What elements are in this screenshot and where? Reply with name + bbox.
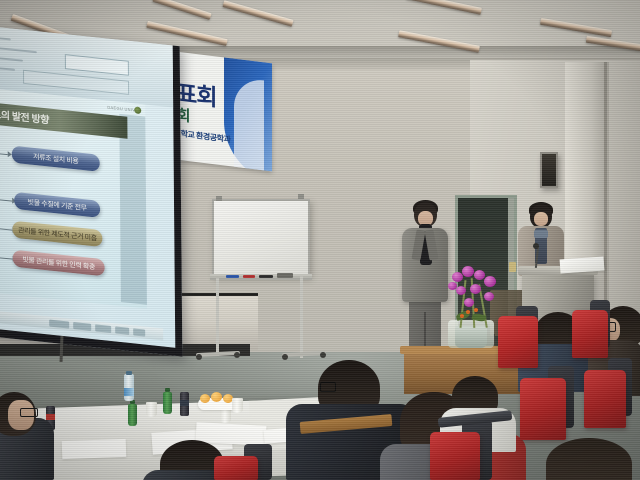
wall-speaker-icon	[540, 152, 558, 188]
slide-connector	[0, 151, 8, 155]
slide-node: 빗물 관리를 위한 인력 확충	[13, 250, 105, 277]
eraser-icon[interactable]	[277, 273, 293, 278]
auditorium-seat[interactable]	[498, 316, 538, 368]
eyeglasses-icon	[320, 382, 336, 392]
projection-screen: DAEGU UNIV 으로의 발전 방향 저류조 설치 비용 빗물 수질에 기준…	[0, 25, 182, 356]
window-text-line	[0, 36, 11, 40]
can-label	[180, 400, 189, 406]
auditorium-seat[interactable]	[214, 456, 258, 480]
auditorium-photo: 발표회 표회 대구대학교 환경공학과 DAEGU UNIV 으로의 발전 방향	[0, 0, 640, 480]
auditorium-seat[interactable]	[430, 432, 480, 480]
speaker-collar	[534, 230, 548, 238]
speaker-face	[534, 212, 548, 226]
slide-connector	[0, 227, 12, 231]
whiteboard-clip-icon	[298, 194, 304, 199]
window-text-line	[0, 46, 37, 53]
orchid-bloom	[448, 282, 457, 290]
banner-swoosh-accent	[234, 77, 264, 172]
taskbar-item[interactable]	[95, 324, 111, 333]
whiteboard	[212, 199, 310, 277]
flower-pot	[455, 326, 487, 348]
marker-icon[interactable]	[243, 275, 255, 278]
water-bottle-label	[124, 388, 134, 396]
documents	[62, 439, 127, 459]
taskbar-item[interactable]	[115, 326, 129, 334]
window-input-field[interactable]	[65, 54, 129, 76]
auditorium-seat[interactable]	[520, 378, 566, 440]
slide-logo-text: DAEGU UNIV	[107, 105, 135, 113]
orchid-bloom	[464, 298, 474, 307]
taskbar-item[interactable]	[49, 319, 69, 328]
slide-node: 저류조 설치 비용	[12, 146, 100, 172]
auditorium-seat[interactable]	[572, 310, 608, 358]
orchid-bloom	[484, 276, 496, 287]
orchid-bloom	[462, 266, 474, 277]
bottle-cap-icon	[165, 388, 170, 392]
orchid-bloom	[452, 272, 463, 282]
green-bottle	[163, 392, 172, 414]
microphone-icon	[533, 243, 539, 249]
window-text-line	[0, 56, 23, 62]
marker-icon[interactable]	[259, 275, 273, 278]
green-bottle	[128, 404, 137, 426]
fruit-piece	[200, 394, 210, 403]
slide-node: 빗물 수질에 기준 전무	[14, 192, 100, 218]
bottle-cap-icon	[126, 371, 132, 375]
door-handle-icon	[509, 262, 516, 272]
orchid-bloom	[470, 284, 481, 294]
window-text-line	[0, 66, 15, 71]
flower-accent	[460, 314, 464, 318]
whiteboard-leg	[216, 278, 219, 356]
orchid-bloom	[484, 292, 494, 301]
orchid-bloom	[456, 286, 466, 295]
slide-node: 관리를 위한 제도적 근거 미흡	[12, 221, 102, 247]
presentation-slide: DAEGU UNIV 으로의 발전 방향 저류조 설치 비용 빗물 수질에 기준…	[0, 87, 147, 308]
slide-connector	[0, 198, 12, 202]
auditorium-seat[interactable]	[584, 370, 626, 428]
taskbar-item[interactable]	[73, 322, 91, 331]
can-label	[46, 414, 55, 420]
eyeglasses-icon	[20, 408, 38, 417]
whiteboard-leg	[300, 276, 303, 358]
slide-connector	[0, 256, 13, 260]
caster-wheel-icon	[320, 352, 326, 358]
paper-cup	[146, 402, 157, 417]
slide-logo-icon	[134, 106, 141, 114]
orchid-bloom	[474, 270, 485, 280]
paper-cup	[232, 398, 243, 413]
caster-wheel-icon	[234, 352, 240, 358]
taskbar-item[interactable]	[133, 328, 145, 336]
caster-wheel-icon	[196, 354, 202, 360]
whiteboard-clip-icon	[216, 196, 222, 201]
caster-wheel-icon	[282, 354, 288, 360]
paper-cup	[220, 408, 231, 423]
slide-side-panel	[119, 114, 147, 305]
flower-accent	[474, 308, 478, 312]
flower-accent	[466, 310, 470, 314]
marker-icon[interactable]	[226, 275, 239, 278]
fruit-piece	[211, 392, 222, 402]
